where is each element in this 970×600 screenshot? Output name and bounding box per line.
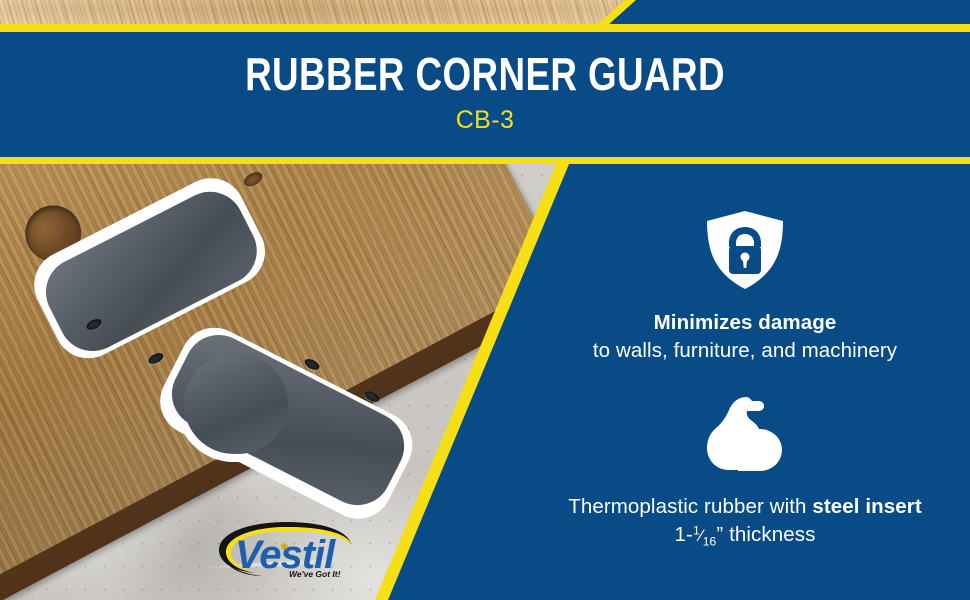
feature-2-line-1: Thermoplastic rubber with steel insert [520,494,970,521]
fraction-denominator: 16 [703,534,717,548]
top-wood-strip [0,0,970,32]
feature-2-thickness-suffix: ” thickness [716,523,815,546]
feature-item-minimizes-damage: Minimizes damage to walls, furniture, an… [520,208,970,364]
shield-lock-icon [520,208,970,292]
wood-knot [242,169,265,189]
feature-2-line-2: 1-1⁄16” thickness [520,522,970,550]
feature-item-steel-insert: Thermoplastic rubber with steel insert 1… [520,392,970,550]
feature-1-line-1: Minimizes damage [520,310,970,337]
page-title: RUBBER CORNER GUARD [97,48,873,100]
yellow-rule-below-title [0,157,970,164]
feature-2-line-1-emphasis: steel insert [812,495,921,518]
feature-1-line-2: to walls, furniture, and machinery [520,338,970,365]
model-number: CB-3 [0,106,970,134]
fraction-numerator: 1 [693,523,700,537]
title-block: RUBBER CORNER GUARD CB-3 [0,32,970,157]
guard-mounting-hole [303,357,321,372]
feature-2-line-1-prefix: Thermoplastic rubber with [568,495,812,518]
guard-rubber-body [56,272,416,498]
flexed-bicep-icon [520,392,970,476]
feature-2-thickness-prefix: 1- [675,523,693,546]
wood-texture-top [0,0,625,24]
rubber-corner-guard [56,272,416,498]
product-banner: RUBBER CORNER GUARD CB-3 [0,0,970,600]
guard-mounting-hole [363,389,381,404]
yellow-rule-top [0,24,970,32]
feature-2-fraction: 1⁄16 [693,526,716,545]
vestil-logo: Vestil We've Got It! [215,518,355,580]
guard-mounting-hole [147,351,165,366]
logo-tagline-text: We've Got It! [289,569,341,579]
wood-knot [0,344,2,370]
feature-panel: Minimizes damage to walls, furniture, an… [520,164,970,600]
